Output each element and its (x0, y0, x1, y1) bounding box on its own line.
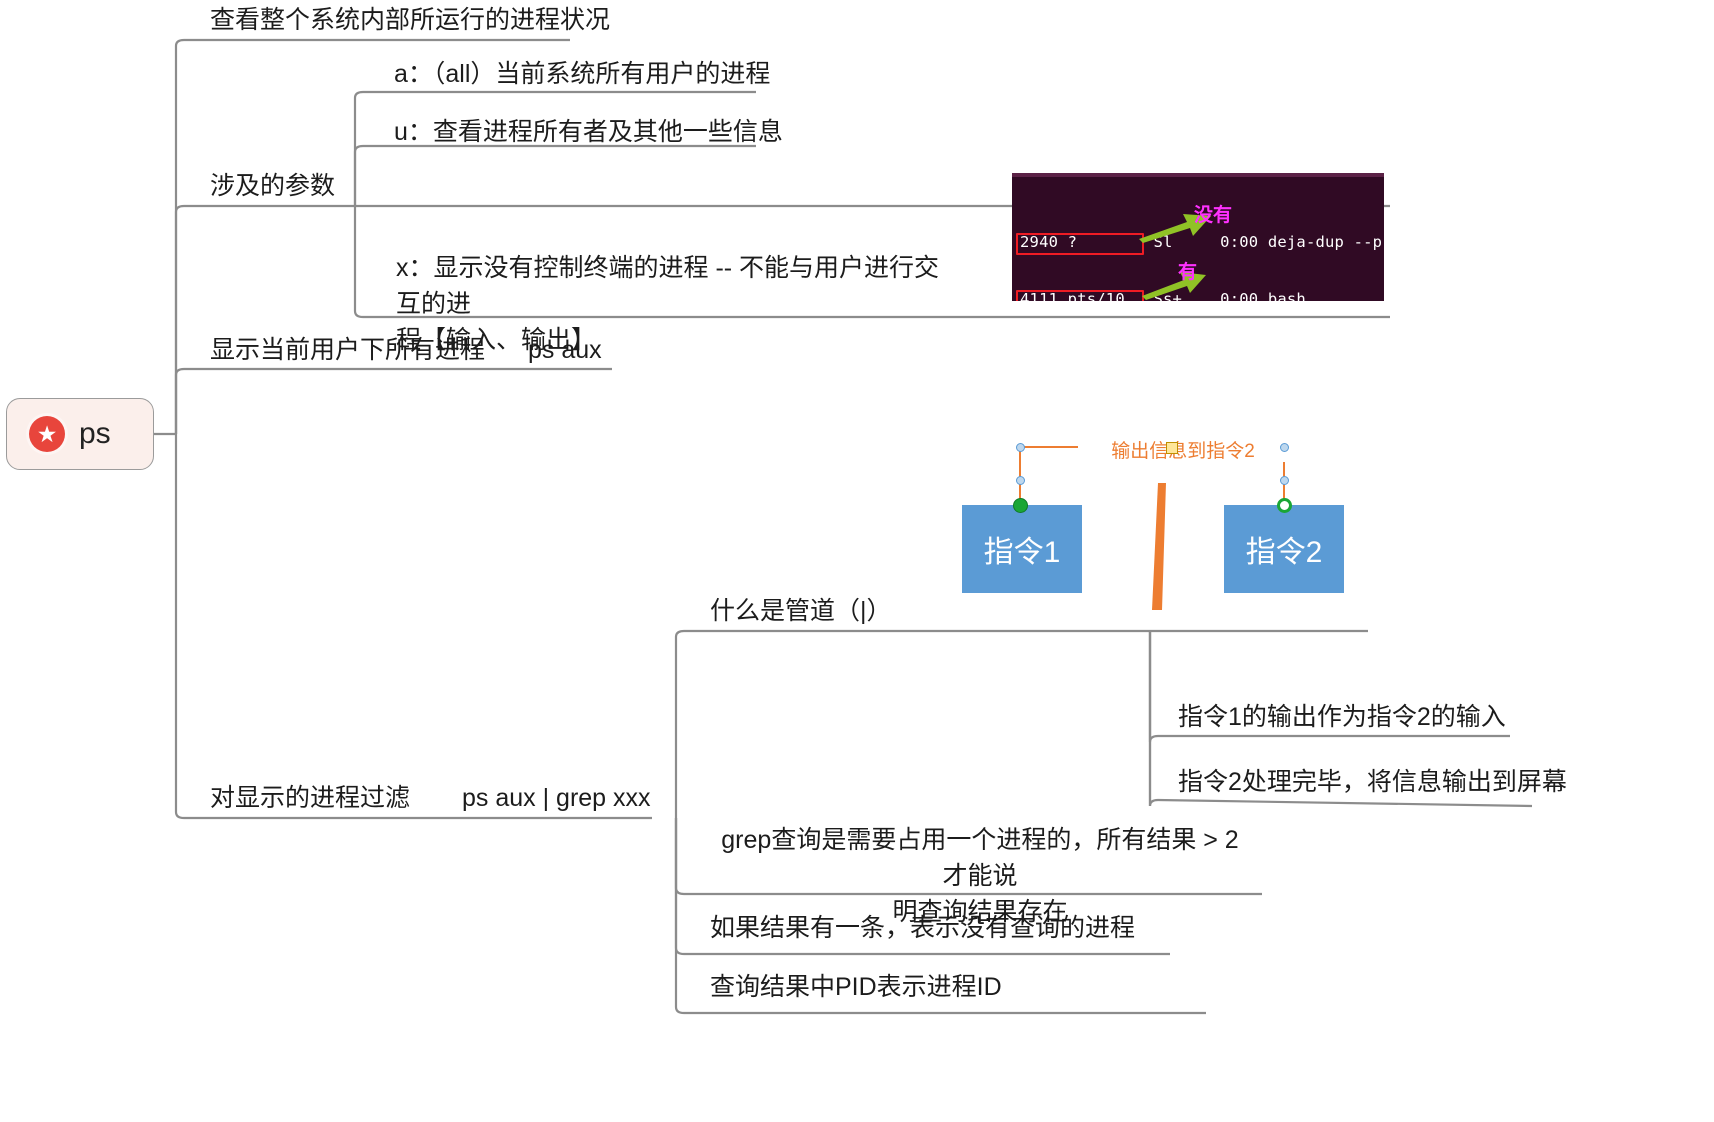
branch-overview-label: 查看整个系统内部所运行的进程状况 (204, 2, 616, 42)
param-node-x[interactable]: x：显示没有控制终端的进程 -- 不能与用户进行交互的进 程【输入、输出】 (390, 250, 950, 362)
param-node-u-label: u：查看进程所有者及其他一些信息 (388, 114, 789, 154)
param-node-a-label: a：（all）当前系统所有用户的进程 (388, 56, 776, 96)
command-ps-aux-grep[interactable]: ps aux | grep xxx (456, 780, 657, 820)
command-ps-aux[interactable]: ps aux (522, 332, 608, 372)
grep-note-3[interactable]: 查询结果中PID表示进程ID (704, 969, 1008, 1009)
pipe-box-command-1-label: 指令1 (984, 527, 1061, 571)
connector-handle-top-right[interactable] (1280, 443, 1289, 452)
annotation-no-tty: 没有 (1194, 206, 1232, 225)
branch-params[interactable]: 涉及的参数 (204, 168, 341, 208)
topic-what-is-pipe-label: 什么是管道（|） (704, 593, 898, 633)
command-ps-aux-label: ps aux (522, 332, 608, 372)
highlight-box-pid-4361 (1016, 233, 1144, 255)
connector-handle-mid[interactable] (1016, 476, 1025, 485)
pipe-connector-label: 输出信息到指令2 (1078, 442, 1288, 462)
root-node-ps[interactable]: ★ ps (6, 398, 154, 470)
connector-endpoint-target[interactable] (1277, 498, 1292, 513)
branch-filter-processes-label: 对显示的进程过滤 (204, 780, 416, 820)
annotation-has-tty: 有 (1178, 263, 1197, 282)
green-arrow-icon (1140, 266, 1210, 300)
branch-overview[interactable]: 查看整个系统内部所运行的进程状况 (204, 2, 616, 42)
param-node-x-label: x：显示没有控制终端的进程 -- 不能与用户进行交互的进 程【输入、输出】 (390, 250, 950, 362)
connector-endpoint-source[interactable] (1013, 498, 1028, 513)
pipe-box-command-2-label: 指令2 (1246, 527, 1323, 571)
pipe-note-1-label: 指令1的输出作为指令2的输入 (1172, 699, 1512, 739)
root-node-label: ps (79, 419, 111, 449)
grep-note-2[interactable]: 如果结果有一条，表示没有查询的进程 (704, 910, 1141, 950)
connector-handle-top[interactable] (1016, 443, 1025, 452)
grep-note-2-label: 如果结果有一条，表示没有查询的进程 (704, 910, 1141, 950)
branch-params-label: 涉及的参数 (204, 168, 341, 208)
command-ps-aux-grep-label: ps aux | grep xxx (456, 780, 657, 820)
topic-what-is-pipe[interactable]: 什么是管道（|） (704, 593, 898, 633)
pipe-note-2-label: 指令2处理完毕，将信息输出到屏幕 (1172, 764, 1573, 804)
param-node-a[interactable]: a：（all）当前系统所有用户的进程 (388, 56, 776, 96)
branch-filter-processes[interactable]: 对显示的进程过滤 (204, 780, 416, 820)
pipe-note-1[interactable]: 指令1的输出作为指令2的输入 (1172, 699, 1512, 739)
connector-handle-yellow[interactable] (1166, 442, 1178, 454)
terminal-titlebar-strip (1012, 173, 1384, 177)
grep-note-3-label: 查询结果中PID表示进程ID (704, 969, 1008, 1009)
star-badge-icon: ★ (29, 416, 65, 452)
param-node-u[interactable]: u：查看进程所有者及其他一些信息 (388, 114, 789, 154)
terminal-screenshot: 2940 ? Sl 0:00 deja-dup --pro 4111 pts/1… (1012, 173, 1384, 301)
connector-handle-mid-right[interactable] (1280, 476, 1289, 485)
highlight-box-pid-4529 (1016, 290, 1144, 301)
pipe-box-command-1[interactable]: 指令1 (962, 505, 1082, 593)
pipe-box-command-2[interactable]: 指令2 (1224, 505, 1344, 593)
pipe-illustration: 指令1 指令2 输出信息到指令2 (950, 425, 1370, 610)
mindmap-canvas: ★ ps 查看整个系统内部所运行的进程状况 涉及的参数 显示当前用户下所有进程 … (0, 0, 1714, 1122)
pipe-note-2[interactable]: 指令2处理完毕，将信息输出到屏幕 (1172, 764, 1573, 804)
